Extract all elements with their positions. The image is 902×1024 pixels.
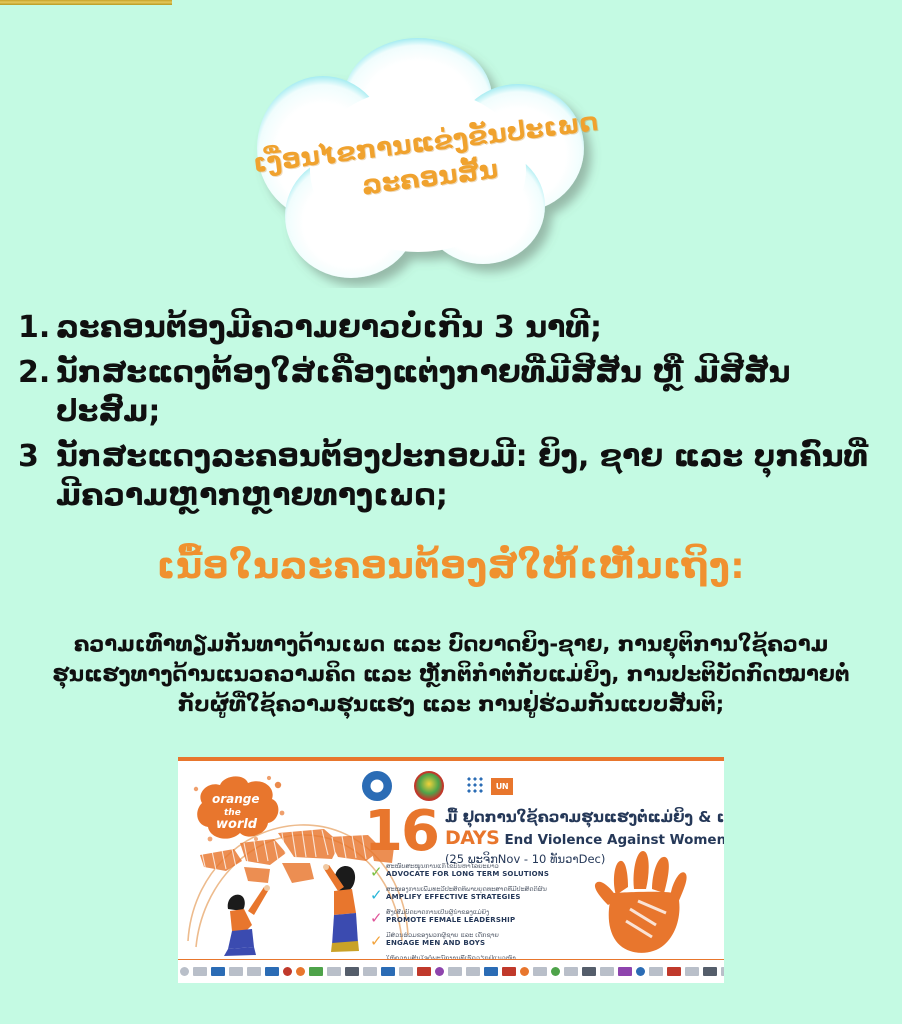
partner-logo bbox=[721, 967, 724, 976]
partner-logo bbox=[649, 967, 663, 976]
partner-logo bbox=[327, 967, 341, 976]
list-item-text: ນັກສະແດງລະຄອນຕ້ອງປະກອບມີ: ຍິງ, ຊາຍ ແລະ ບ… bbox=[56, 437, 886, 515]
partner-logo bbox=[636, 967, 645, 976]
partner-logo bbox=[309, 967, 323, 976]
partner-logo bbox=[211, 967, 225, 976]
partner-logo bbox=[381, 967, 395, 976]
campaign-banner: orange the world bbox=[178, 757, 724, 983]
headline-days-word: DAYS bbox=[445, 827, 500, 849]
partner-logo bbox=[265, 967, 279, 976]
partner-logo bbox=[435, 967, 444, 976]
list-item-text: ນັກສະແດງຕ້ອງໃສ່ເຄື່ອງແຕ່ງກາຍທີ່ມີສີສັນ ຫ… bbox=[56, 353, 886, 431]
banner-logo-row: UN bbox=[362, 771, 513, 801]
partner-logo bbox=[247, 967, 261, 976]
partner-logo bbox=[296, 967, 305, 976]
headline-lao-unit: ມື້ bbox=[445, 808, 458, 826]
partner-logo bbox=[520, 967, 529, 976]
figure-standing bbox=[323, 864, 359, 952]
un-women-dots-icon bbox=[466, 776, 488, 796]
top-gold-rule bbox=[0, 0, 172, 5]
cloud-title-banner: ເງື່ອນໄຂການແຂ່ງຂັນປະເພດ ລະຄອນສັ້ນ bbox=[243, 30, 613, 288]
check-icon: ✓ bbox=[370, 863, 386, 880]
partner-logo bbox=[533, 967, 547, 976]
rules-list: 1. ລະຄອນຕ້ອງມີຄວາມຍາວບໍ່ເກີນ 3 ນາທີ; 2. … bbox=[18, 308, 886, 521]
list-item: 2. ນັກສະແດງຕ້ອງໃສ່ເຄື່ອງແຕ່ງກາຍທີ່ມີສີສັ… bbox=[18, 353, 886, 431]
partner-logo bbox=[448, 967, 462, 976]
headline-lao-title: ມື້ ຢຸດການໃຊ້ຄວາມຮຸນແຮງຕໍ່ແມ່ຍິງ & ເດັກຍ… bbox=[445, 809, 724, 826]
partner-logo bbox=[466, 967, 480, 976]
partner-logo bbox=[193, 967, 207, 976]
list-item-number: 3 bbox=[18, 437, 56, 476]
check-icon: ✓ bbox=[370, 909, 386, 926]
headline-number: 16 bbox=[364, 807, 438, 856]
partner-logo bbox=[564, 967, 578, 976]
un-women-logo-icon: UN bbox=[466, 776, 513, 796]
partner-logo bbox=[600, 967, 614, 976]
partner-logo-strip bbox=[178, 959, 724, 983]
partner-logo bbox=[417, 967, 431, 976]
list-item: 1. ລະຄອນຕ້ອງມີຄວາມຍາວບໍ່ເກີນ 3 ນາທີ; bbox=[18, 308, 886, 347]
un-women-wordmark: UN bbox=[491, 778, 513, 795]
partner-logo bbox=[283, 967, 292, 976]
lao-national-emblem-icon bbox=[414, 771, 444, 801]
section-heading: ເນື້ອໃນລະຄອນຕ້ອງສໍ່ໃຫ້ເຫັນເຖິງ: bbox=[0, 545, 902, 588]
partner-logo bbox=[502, 967, 516, 976]
list-item-text: ລະຄອນຕ້ອງມີຄວາມຍາວບໍ່ເກີນ 3 ນາທີ; bbox=[56, 308, 886, 347]
partner-logo bbox=[618, 967, 632, 976]
partner-logo bbox=[582, 967, 596, 976]
orange-handprint-icon bbox=[586, 849, 706, 961]
partner-logo bbox=[685, 967, 699, 976]
list-item-number: 2. bbox=[18, 353, 56, 392]
headline-english-title: End Violence Against Women and Girls Now… bbox=[504, 832, 724, 848]
partner-logo bbox=[551, 967, 560, 976]
partner-logo bbox=[667, 967, 681, 976]
check-icon: ✓ bbox=[370, 932, 386, 949]
svg-text:orange: orange bbox=[212, 792, 260, 806]
partner-logo bbox=[399, 967, 413, 976]
partner-logo bbox=[484, 967, 498, 976]
partner-logo bbox=[703, 967, 717, 976]
partner-emblem-blue-icon bbox=[362, 771, 392, 801]
section-paragraph: ຄວາມເທົ່າທຽມກັນທາງດ້ານເພດ ແລະ ບົດບາດຍິງ-… bbox=[40, 630, 862, 719]
partner-logo bbox=[345, 967, 359, 976]
figure-kneeling bbox=[224, 885, 270, 956]
partner-logo bbox=[363, 967, 377, 976]
headline-lao-text: ຢຸດການໃຊ້ຄວາມຮຸນແຮງຕໍ່ແມ່ຍິງ & ເດັກຍິງ! bbox=[463, 808, 724, 826]
list-item-number: 1. bbox=[18, 308, 56, 347]
partner-logo bbox=[229, 967, 243, 976]
partner-logo bbox=[180, 967, 189, 976]
check-icon: ✓ bbox=[370, 886, 386, 903]
list-item: 3 ນັກສະແດງລະຄອນຕ້ອງປະກອບມີ: ຍິງ, ຊາຍ ແລະ… bbox=[18, 437, 886, 515]
